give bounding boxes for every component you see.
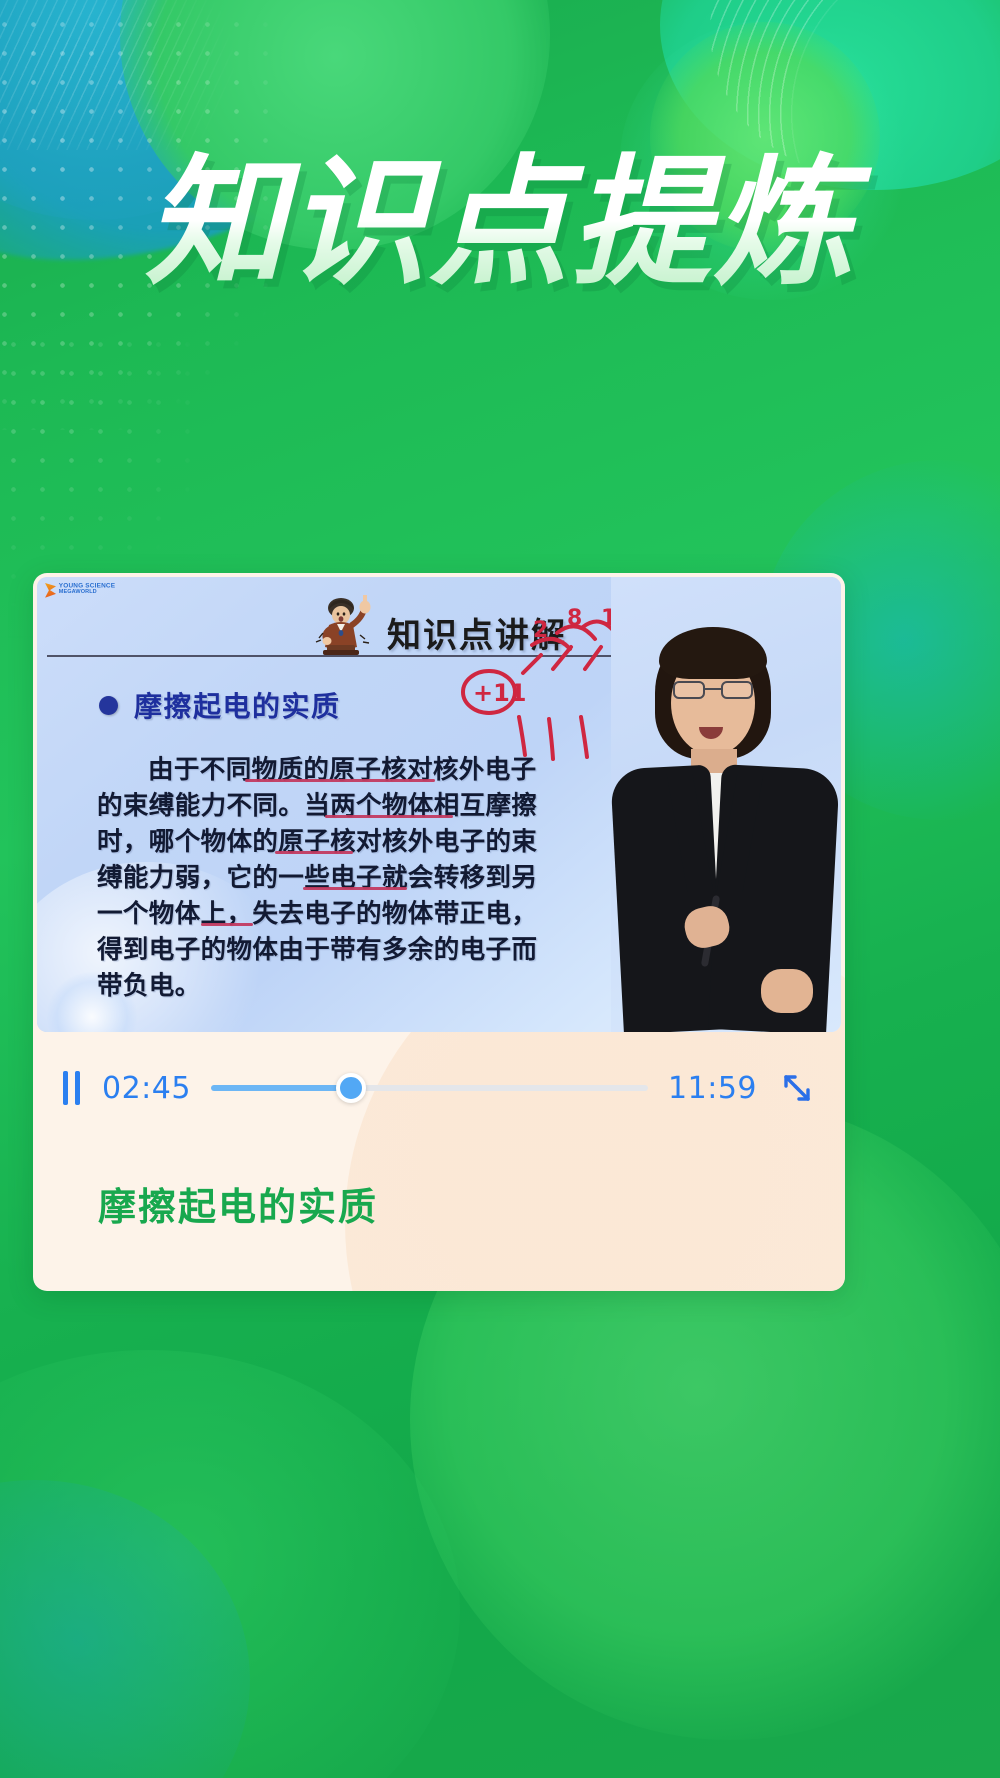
progress-fill (211, 1085, 351, 1091)
fullscreen-icon[interactable] (777, 1068, 817, 1108)
slide-header-title: 知识点讲解 (387, 619, 567, 657)
green-circle-bottom-left (0, 1350, 460, 1778)
video-player[interactable]: YOUNG SCIENCE MEGAWORLD (37, 577, 841, 1032)
teal-circle-bottom-left (0, 1480, 250, 1778)
current-time-label: 02:45 (102, 1071, 191, 1106)
slide-bullet: 摩擦起电的实质 (99, 685, 341, 725)
dot-pattern-lower (0, 330, 210, 610)
marker-underline (303, 887, 407, 890)
slide-body-line: 时，哪个物体的原子核对核外电子的束 (97, 824, 567, 860)
slide-body-line: 得到电子的物体由于带有多余的电子而 (97, 932, 567, 968)
lesson-slide: YOUNG SCIENCE MEGAWORLD (37, 577, 841, 1032)
marker-underline (201, 923, 253, 926)
marker-underline (275, 851, 353, 854)
arc-line-pattern-left (0, 0, 240, 150)
slide-body-line: 缚能力弱，它的一些电子就会转移到另 (97, 860, 567, 896)
presenter-jacket-left (611, 765, 724, 1032)
presenter-video-figure (611, 577, 841, 1032)
pause-icon[interactable] (61, 1067, 82, 1109)
bullet-dot-icon (99, 696, 118, 715)
svg-text:+11: +11 (473, 679, 527, 707)
marker-underline (325, 815, 453, 818)
page-root: 知识点提炼 YOUNG SCIENCE MEGAWORLD (0, 0, 1000, 1778)
slide-bullet-title: 摩擦起电的实质 (134, 685, 341, 725)
cartoon-teacher-icon (311, 595, 377, 657)
presenter-hand-lower (761, 969, 813, 1013)
video-control-bar: 02:45 11:59 (33, 1036, 845, 1140)
slide-body-text: 由于不同物质的原子核对核外电子 的束缚能力不同。当两个物体相互摩擦 时，哪个物体… (97, 752, 567, 1004)
presenter-glasses (673, 681, 753, 699)
progress-bar[interactable] (211, 1073, 648, 1103)
lesson-caption: 摩擦起电的实质 (98, 1176, 378, 1231)
slide-body-line: 由于不同物质的原子核对核外电子 (97, 752, 567, 788)
brand-line-1: YOUNG SCIENCE (59, 583, 115, 590)
marker-underline (245, 779, 435, 782)
page-title: 知识点提炼 (0, 150, 1000, 297)
slide-body-line: 带负电。 (97, 968, 567, 1004)
total-time-label: 11:59 (668, 1071, 757, 1106)
slide-body-line: 一个物体上，失去电子的物体带正电， (97, 896, 567, 932)
brand-text: YOUNG SCIENCE MEGAWORLD (59, 583, 115, 596)
slide-body-line: 的束缚能力不同。当两个物体相互摩擦 (97, 788, 567, 824)
progress-thumb[interactable] (336, 1073, 366, 1103)
